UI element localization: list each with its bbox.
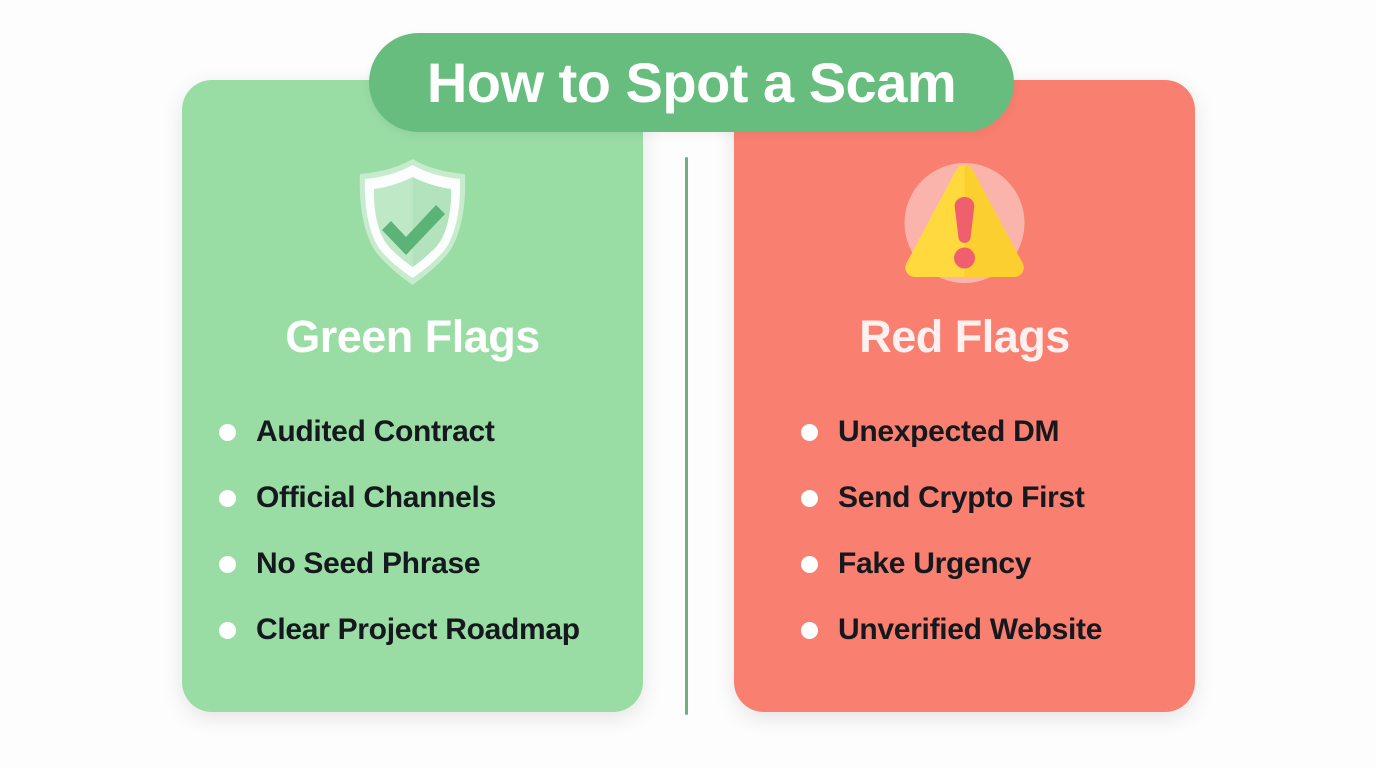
list-item: Unexpected DM — [801, 399, 1195, 465]
list-item-label: Clear Project Roadmap — [256, 615, 580, 645]
bullet-icon — [219, 556, 236, 573]
page-title: How to Spot a Scam — [427, 55, 956, 111]
list-item: Unverified Website — [801, 597, 1195, 663]
bullet-icon — [219, 424, 236, 441]
bullet-icon — [801, 622, 818, 639]
list-item-label: Unverified Website — [838, 615, 1102, 645]
green-flags-heading: Green Flags — [285, 314, 540, 359]
list-item: Official Channels — [219, 465, 643, 531]
list-item: Audited Contract — [219, 399, 643, 465]
warning-triangle-icon — [892, 153, 1037, 293]
vertical-divider — [685, 157, 688, 715]
red-flags-heading: Red Flags — [859, 314, 1070, 359]
list-item: Fake Urgency — [801, 531, 1195, 597]
list-item: Clear Project Roadmap — [219, 597, 643, 663]
red-flags-list: Unexpected DM Send Crypto First Fake Urg… — [734, 399, 1195, 663]
green-flags-panel: Green Flags Audited Contract Official Ch… — [182, 80, 643, 712]
list-item-label: No Seed Phrase — [256, 549, 480, 579]
title-banner: How to Spot a Scam — [369, 33, 1014, 132]
list-item-label: Fake Urgency — [838, 549, 1031, 579]
list-item: No Seed Phrase — [219, 531, 643, 597]
infographic-canvas: Green Flags Audited Contract Official Ch… — [0, 0, 1376, 768]
red-flags-panel: Red Flags Unexpected DM Send Crypto Firs… — [734, 80, 1195, 712]
bullet-icon — [801, 490, 818, 507]
list-item-label: Send Crypto First — [838, 483, 1085, 513]
bullet-icon — [801, 424, 818, 441]
list-item: Send Crypto First — [801, 465, 1195, 531]
shield-check-icon — [340, 153, 485, 293]
bullet-icon — [219, 490, 236, 507]
bullet-icon — [801, 556, 818, 573]
list-item-label: Audited Contract — [256, 417, 495, 447]
list-item-label: Unexpected DM — [838, 417, 1059, 447]
bullet-icon — [219, 622, 236, 639]
green-flags-list: Audited Contract Official Channels No Se… — [182, 399, 643, 663]
list-item-label: Official Channels — [256, 483, 496, 513]
